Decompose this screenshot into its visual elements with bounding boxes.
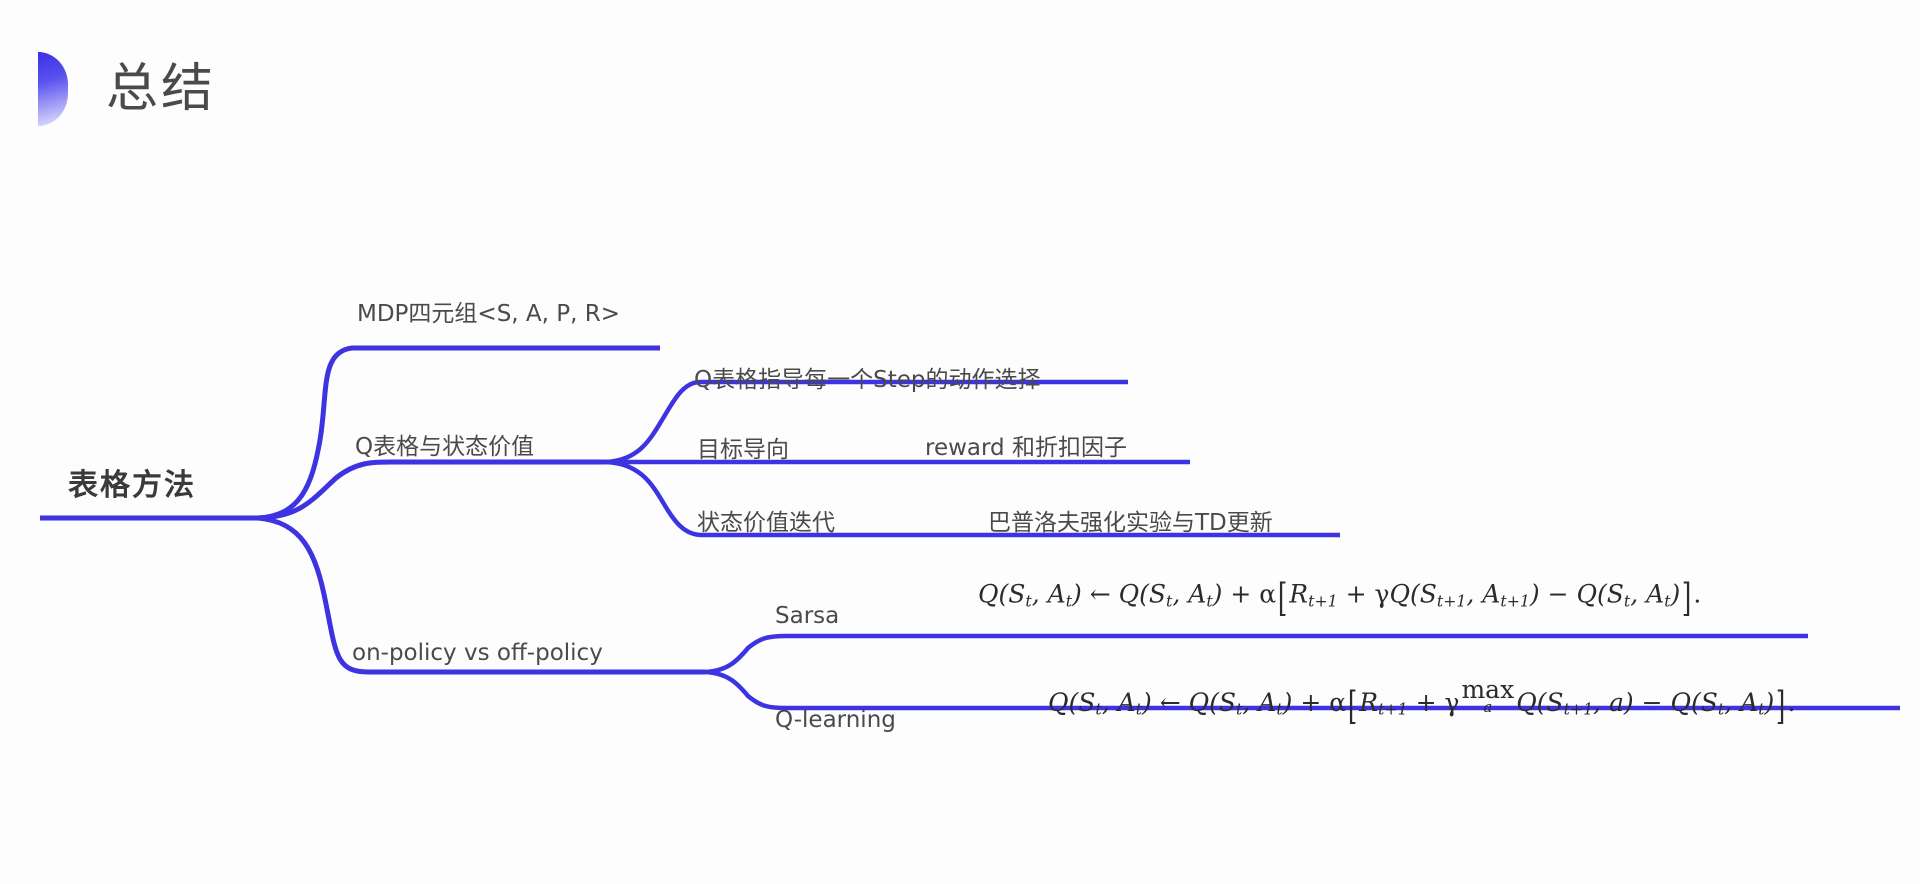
- connector-sub-sarsa: [705, 636, 1808, 672]
- formula-qlearning-update: Q(St, At) ← Q(St, At) + α[Rt+1 + γmaxaQ(…: [1048, 678, 1795, 729]
- mindmap-node-qtable-state-value[interactable]: Q表格与状态价值: [355, 427, 534, 461]
- mindmap-node-reward-discount[interactable]: reward 和折扣因子: [925, 428, 1127, 462]
- mindmap-node-sarsa[interactable]: Sarsa: [775, 603, 839, 629]
- mindmap-node-mdp[interactable]: MDP四元组<S, A, P, R>: [357, 294, 620, 328]
- mindmap-root-node[interactable]: 表格方法: [68, 460, 196, 504]
- mindmap-node-goal-oriented[interactable]: 目标导向: [697, 430, 789, 464]
- mindmap-node-pavlov-td-update[interactable]: 巴普洛夫强化实验与TD更新: [988, 503, 1273, 537]
- mindmap-node-onpolicy-offpolicy[interactable]: on-policy vs off-policy: [352, 640, 603, 666]
- mindmap-node-qtable-step-action[interactable]: Q表格指导每一个Step的动作选择: [694, 360, 1040, 394]
- mindmap-node-state-value-iteration[interactable]: 状态价值迭代: [697, 503, 835, 537]
- formula-sarsa-update: Q(St, At) ← Q(St, At) + α[Rt+1 + γQ(St+1…: [978, 576, 1701, 621]
- connector-branch-qtable: [258, 462, 605, 518]
- mindmap-node-qlearning[interactable]: Q-learning: [775, 707, 896, 733]
- slide-canvas: 总结 表格方法 MDP四元组<S, A, P, R> Q表格与状态价值 on-p…: [0, 0, 1920, 884]
